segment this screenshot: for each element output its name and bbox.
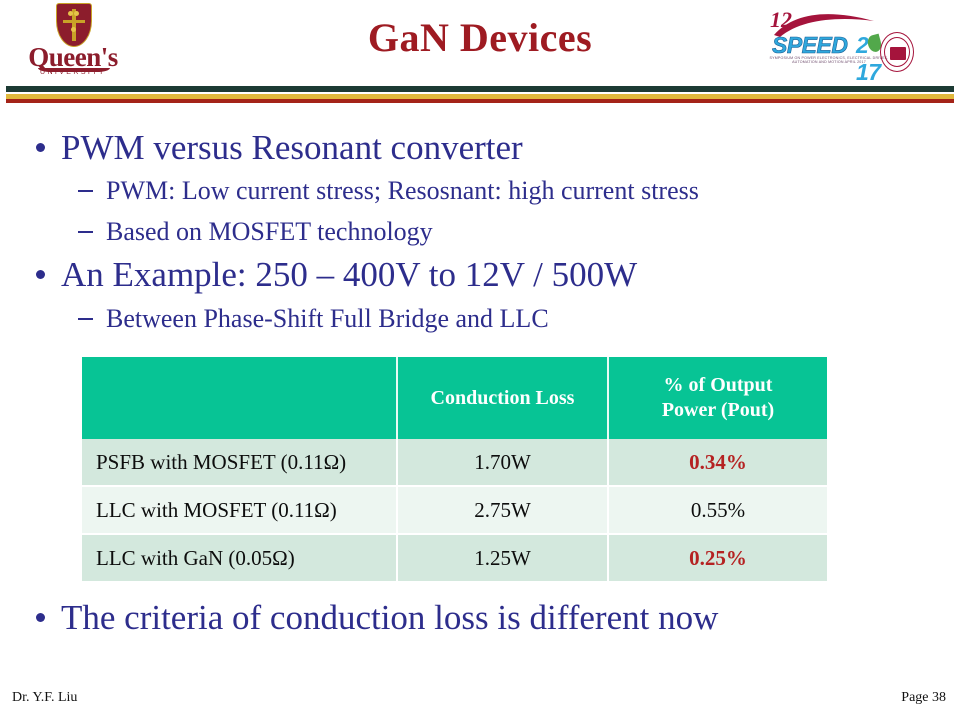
table-row: LLC with GaN (0.05Ω) 1.25W 0.25% bbox=[82, 534, 827, 582]
shield-dot bbox=[68, 11, 73, 16]
speed-2017-logo: 12 SPEED 2 17 SYMPOSIUM ON POWER ELECTRO… bbox=[764, 6, 894, 78]
table-row: LLC with MOSFET (0.11Ω) 2.75W 0.55% bbox=[82, 486, 827, 534]
sub-bullet-text: Based on MOSFET technology bbox=[106, 217, 433, 246]
bullet-dot-icon bbox=[36, 270, 45, 279]
slide: Queen's UNIVERSITY GaN Devices 12 SPEED … bbox=[0, 0, 960, 720]
divider-bar-dark bbox=[6, 86, 954, 92]
row-label: LLC with MOSFET (0.11Ω) bbox=[82, 486, 397, 534]
conduction-loss-table: Conduction Loss % of OutputPower (Pout) … bbox=[82, 357, 827, 583]
table-header-conduction-loss: Conduction Loss bbox=[397, 357, 608, 439]
sub-bullet-text: Between Phase-Shift Full Bridge and LLC bbox=[106, 304, 549, 333]
table-header-blank bbox=[82, 357, 397, 439]
sub-bullet-current-stress: PWM: Low current stress; Resosnant: high… bbox=[78, 176, 699, 206]
queens-sub-wordmark: UNIVERSITY bbox=[14, 69, 132, 76]
slide-header: Queen's UNIVERSITY GaN Devices 12 SPEED … bbox=[0, 0, 960, 84]
dash-bullet-icon bbox=[78, 318, 93, 320]
table-header-percent-of-output-power: % of OutputPower (Pout) bbox=[608, 357, 827, 439]
speed-prefix: 12 bbox=[770, 7, 792, 33]
footer-page-number: Page 38 bbox=[901, 690, 946, 706]
page-title: GaN Devices bbox=[230, 16, 730, 60]
row-label: LLC with GaN (0.05Ω) bbox=[82, 534, 397, 582]
queens-wordmark: Queen's bbox=[14, 44, 132, 71]
row-percent-of-pout: 0.34% bbox=[608, 439, 827, 486]
shield-cross-horizontal bbox=[63, 20, 85, 23]
row-label: PSFB with MOSFET (0.11Ω) bbox=[82, 439, 397, 486]
sub-bullet-psfb-vs-llc: Between Phase-Shift Full Bridge and LLC bbox=[78, 304, 549, 334]
queens-shield-icon bbox=[56, 3, 92, 47]
header-line-2: Power (Pout) bbox=[662, 399, 774, 421]
bullet-criteria-conclusion: The criteria of conduction loss is diffe… bbox=[36, 598, 718, 638]
speed-seal-icon bbox=[880, 32, 914, 72]
footer-author: Dr. Y.F. Liu bbox=[12, 690, 77, 706]
row-conduction-loss: 2.75W bbox=[397, 486, 608, 534]
bullet-dot-icon bbox=[36, 143, 45, 152]
shield-dot bbox=[74, 11, 79, 16]
bullet-text: An Example: 250 – 400V to 12V / 500W bbox=[61, 255, 637, 294]
sub-bullet-mosfet-technology: Based on MOSFET technology bbox=[78, 217, 433, 247]
dash-bullet-icon bbox=[78, 231, 93, 233]
table-header-row: Conduction Loss % of OutputPower (Pout) bbox=[82, 357, 827, 439]
divider-bar-red bbox=[6, 99, 954, 103]
shield-dot bbox=[71, 27, 76, 32]
row-percent-of-pout: 0.25% bbox=[608, 534, 827, 582]
bullet-text: PWM versus Resonant converter bbox=[61, 128, 523, 167]
row-percent-of-pout: 0.55% bbox=[608, 486, 827, 534]
row-conduction-loss: 1.70W bbox=[397, 439, 608, 486]
table-row: PSFB with MOSFET (0.11Ω) 1.70W 0.34% bbox=[82, 439, 827, 486]
bullet-pwm-versus-resonant: PWM versus Resonant converter bbox=[36, 128, 523, 168]
speed-seal-emblem bbox=[890, 47, 906, 60]
speed-caption: SYMPOSIUM ON POWER ELECTRONICS, ELECTRIC… bbox=[768, 56, 890, 64]
bullet-an-example: An Example: 250 – 400V to 12V / 500W bbox=[36, 255, 637, 295]
bullet-text: The criteria of conduction loss is diffe… bbox=[61, 598, 718, 637]
dash-bullet-icon bbox=[78, 190, 93, 192]
sub-bullet-text: PWM: Low current stress; Resosnant: high… bbox=[106, 176, 699, 205]
queens-university-logo: Queen's UNIVERSITY bbox=[12, 2, 132, 80]
bullet-dot-icon bbox=[36, 613, 45, 622]
speed-wordmark: SPEED bbox=[772, 32, 847, 59]
header-line-1: % of Output bbox=[664, 374, 773, 396]
row-conduction-loss: 1.25W bbox=[397, 534, 608, 582]
